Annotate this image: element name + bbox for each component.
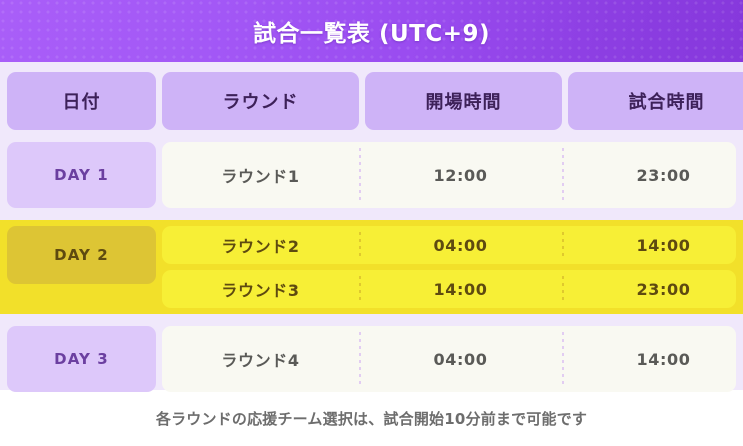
- cell-open-time: 14:00: [359, 270, 562, 308]
- footer-note: 各ラウンドの応援チーム選択は、試合開始10分前まで可能です: [0, 390, 743, 446]
- column-header-match-time-label: 試合時間: [629, 88, 705, 114]
- cell-open-time: 04:00: [359, 226, 562, 264]
- column-header-round-label: ラウンド: [223, 88, 299, 114]
- column-header-open-time: 開場時間: [365, 72, 562, 130]
- footer-note-text: 各ラウンドの応援チーム選択は、試合開始10分前まで可能です: [156, 408, 587, 429]
- cell-match-time-label: 23:00: [637, 166, 691, 185]
- cell-match-time: 14:00: [562, 326, 736, 392]
- day-cell-1: DAY 1: [7, 142, 156, 208]
- cell-round: ラウンド4: [162, 326, 359, 392]
- table-row[interactable]: ラウンド4 04:00 14:00: [162, 326, 736, 392]
- column-header-day: 日付: [7, 72, 156, 130]
- day-cell-3: DAY 3: [7, 326, 156, 392]
- day-cell-3-label: DAY 3: [54, 350, 109, 368]
- cell-match-time: 23:00: [562, 142, 736, 208]
- cell-match-time: 23:00: [562, 270, 736, 308]
- cell-round: ラウンド3: [162, 270, 359, 308]
- page-title: 試合一覧表 (UTC+9): [253, 14, 490, 48]
- day-group-3: DAY 3 ラウンド4 04:00 14:00: [0, 326, 743, 392]
- cell-match-time-label: 23:00: [637, 280, 691, 299]
- cell-match-time-label: 14:00: [637, 236, 691, 255]
- column-header-round: ラウンド: [162, 72, 359, 130]
- column-header-open-time-label: 開場時間: [426, 88, 502, 114]
- table-row[interactable]: ラウンド3 14:00 23:00: [162, 270, 736, 308]
- cell-open-time: 04:00: [359, 326, 562, 392]
- day-cell-2: DAY 2: [7, 226, 156, 284]
- day-group-1: DAY 1 ラウンド1 12:00 23:00: [0, 142, 743, 208]
- cell-open-time-label: 12:00: [434, 166, 488, 185]
- page-banner: 試合一覧表 (UTC+9): [0, 0, 743, 62]
- table-row[interactable]: ラウンド2 04:00 14:00: [162, 226, 736, 264]
- schedule-table: 日付 ラウンド 開場時間 試合時間 DAY 1 ラウンド1: [0, 62, 743, 390]
- cell-round-label: ラウンド4: [221, 347, 299, 371]
- match-schedule-page: 試合一覧表 (UTC+9) 日付 ラウンド 開場時間 試合時間 DAY 1: [0, 0, 743, 446]
- table-header-row: 日付 ラウンド 開場時間 試合時間: [0, 72, 743, 130]
- day-group-2-rows: ラウンド2 04:00 14:00 ラウンド3 14:00: [162, 226, 736, 308]
- cell-open-time: 12:00: [359, 142, 562, 208]
- cell-open-time-label: 04:00: [434, 350, 488, 369]
- day-group-1-rows: ラウンド1 12:00 23:00: [162, 142, 736, 208]
- column-header-day-label: 日付: [63, 88, 101, 114]
- cell-round-label: ラウンド2: [221, 233, 299, 257]
- cell-match-time: 14:00: [562, 226, 736, 264]
- day-group-2: DAY 2 ラウンド2 04:00 14:00 ラウンド3: [0, 220, 743, 314]
- cell-open-time-label: 14:00: [434, 280, 488, 299]
- day-group-3-rows: ラウンド4 04:00 14:00: [162, 326, 736, 392]
- cell-match-time-label: 14:00: [637, 350, 691, 369]
- day-cell-1-label: DAY 1: [54, 166, 109, 184]
- cell-round: ラウンド1: [162, 142, 359, 208]
- table-row[interactable]: ラウンド1 12:00 23:00: [162, 142, 736, 208]
- cell-round: ラウンド2: [162, 226, 359, 264]
- day-cell-2-label: DAY 2: [54, 246, 109, 264]
- column-header-match-time: 試合時間: [568, 72, 743, 130]
- cell-open-time-label: 04:00: [434, 236, 488, 255]
- cell-round-label: ラウンド3: [221, 277, 299, 301]
- cell-round-label: ラウンド1: [221, 163, 299, 187]
